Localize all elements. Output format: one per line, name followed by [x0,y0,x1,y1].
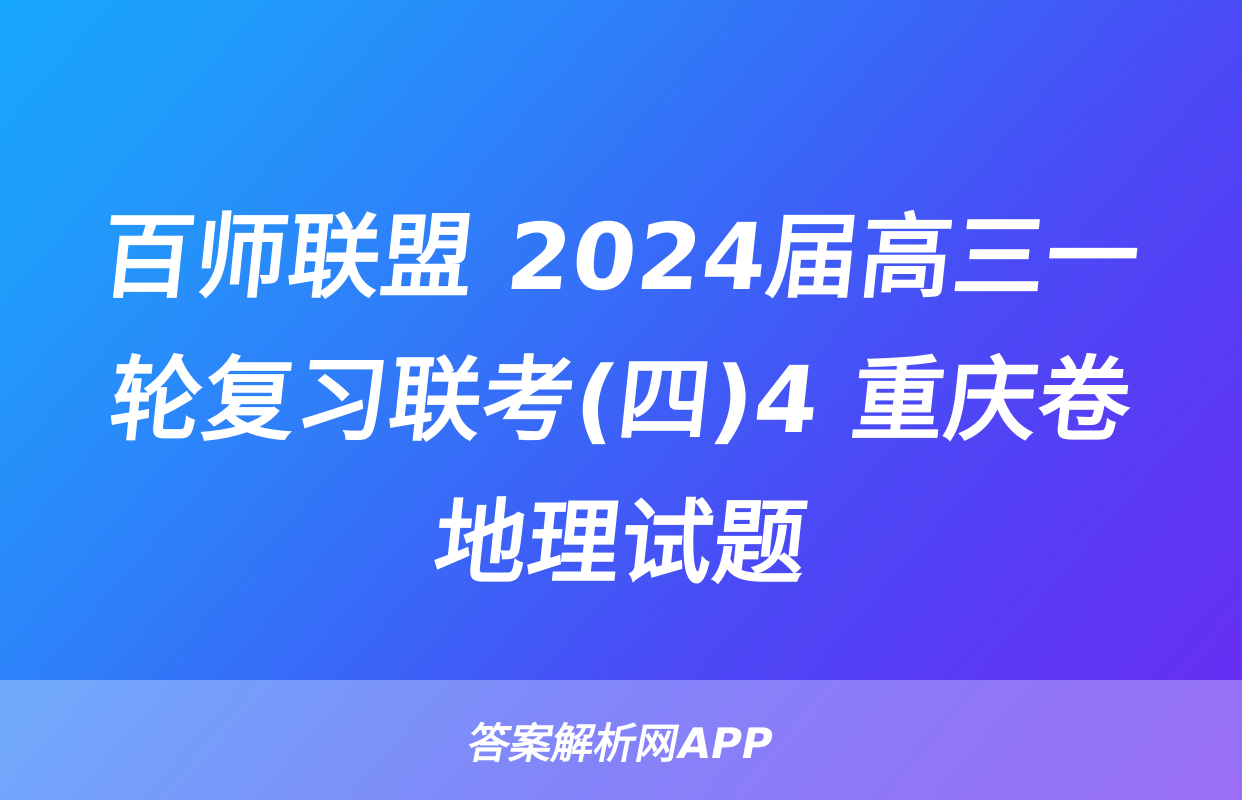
page-title: 百师联盟 2024届高三一 轮复习联考(四)4 重庆卷 地理试题 [0,186,1242,615]
footer-watermark-band: 答案解析网APP [0,680,1242,800]
title-line-1: 百师联盟 2024届高三一 [22,186,1219,329]
app-watermark-label: 答案解析网APP [463,710,779,771]
title-line-2: 轮复习联考(四)4 重庆卷 [22,329,1219,472]
exam-title-card: 百师联盟 2024届高三一 轮复习联考(四)4 重庆卷 地理试题 答案解析网AP… [0,0,1242,800]
title-line-3: 地理试题 [22,472,1219,615]
